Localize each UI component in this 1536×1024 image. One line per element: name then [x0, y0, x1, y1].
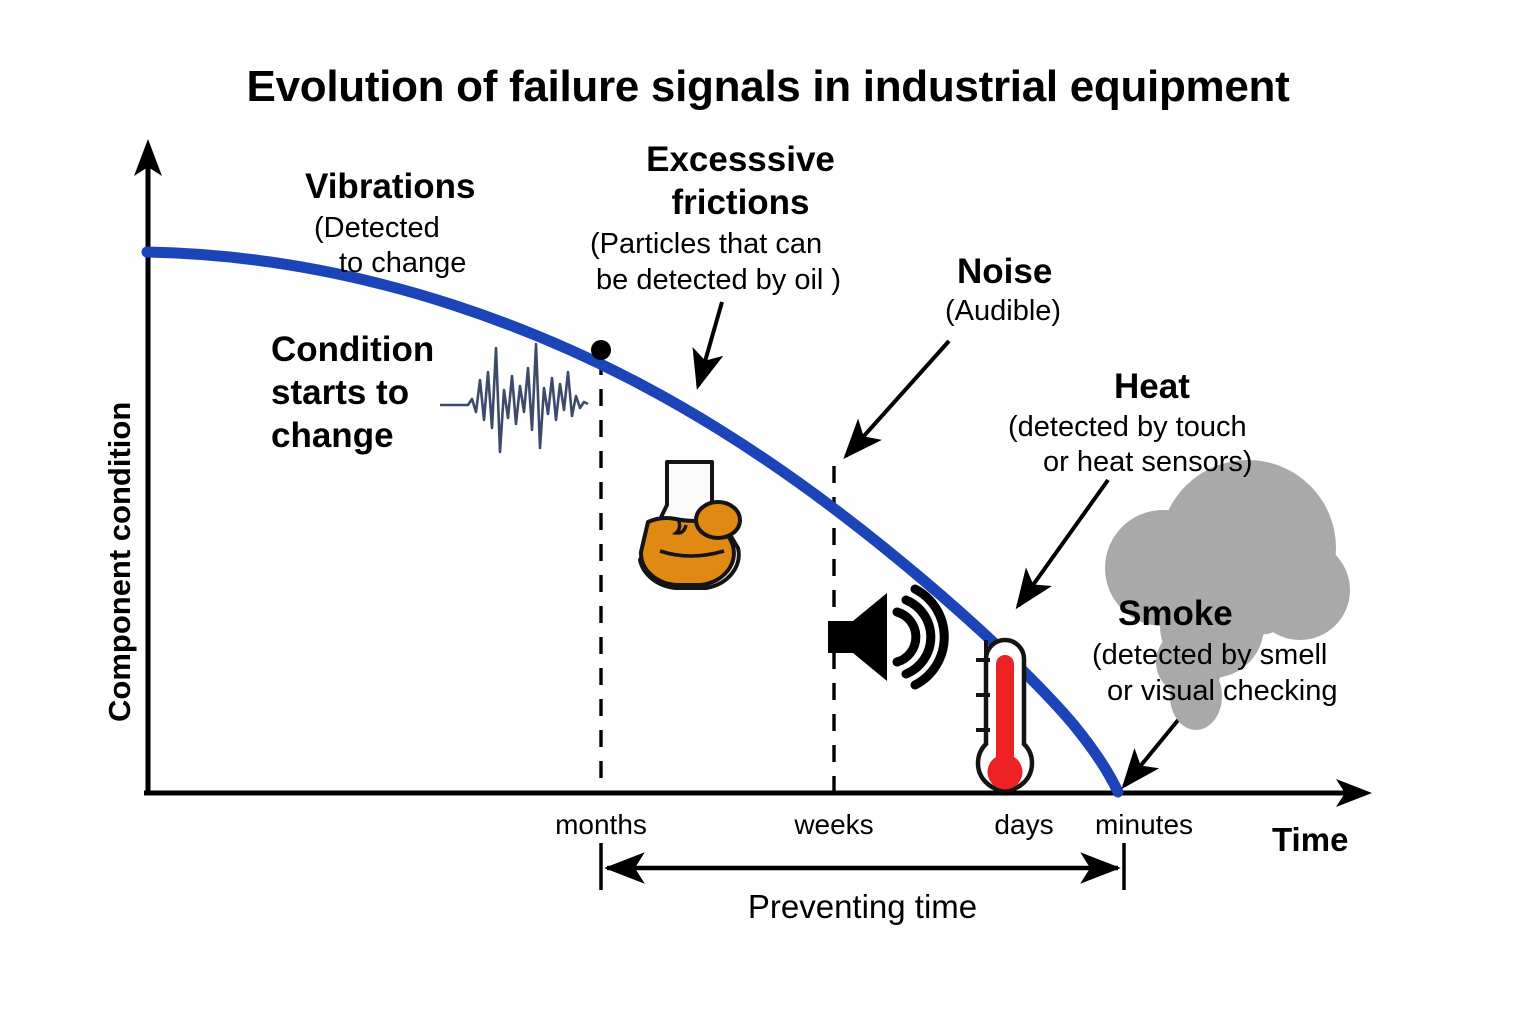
heat-arrow [1018, 480, 1108, 606]
x-axis [144, 779, 1372, 807]
condition-start-dot-marker [591, 340, 611, 360]
annotation-smoke-heading: Smoke [1118, 595, 1233, 632]
speaker-icon [828, 589, 944, 685]
frictions-arrow [698, 302, 722, 386]
annotation-vibrations-sub-2: to change [339, 248, 466, 279]
thermometer-icon [976, 640, 1032, 790]
annotation-noise-heading: Noise [957, 253, 1052, 290]
annotation-frictions-heading-2: frictions [583, 184, 898, 221]
y-axis [134, 139, 162, 793]
annotation-condition-line-3: change [271, 417, 394, 454]
annotation-frictions-heading-1: Excesssive [583, 141, 898, 178]
annotation-smoke-sub-2: or visual checking [1107, 676, 1338, 707]
annotation-heat-sub-1: (detected by touch [1008, 412, 1247, 443]
x-tick-label-weeks: weeks [754, 810, 914, 840]
oil-flask-icon [640, 462, 740, 588]
annotation-heat-sub-2: or heat sensors) [1043, 447, 1253, 478]
x-axis-label: Time [1272, 823, 1348, 858]
waveform-icon [440, 344, 588, 452]
annotation-noise-sub-1: (Audible) [945, 296, 1061, 327]
noise-arrow [846, 341, 949, 456]
preventing-time-bracket [601, 843, 1124, 890]
page-title: Evolution of failure signals in industri… [0, 64, 1536, 111]
annotation-frictions-sub-1: (Particles that can [590, 229, 822, 260]
diagram-canvas: Evolution of failure signals in industri… [0, 0, 1536, 1024]
x-tick-label-minutes: minutes [1064, 810, 1224, 840]
preventing-time-label: Preventing time [601, 890, 1124, 925]
annotation-vibrations-sub-1: (Detected [314, 213, 440, 244]
annotation-vibrations-heading: Vibrations [305, 168, 476, 205]
annotation-frictions-sub-2: be detected by oil ) [596, 265, 841, 296]
annotation-condition-line-2: starts to [271, 374, 409, 411]
annotation-heat-heading: Heat [1114, 368, 1190, 405]
y-axis-label: Component condition [102, 402, 138, 722]
annotation-smoke-sub-1: (detected by smell [1092, 640, 1327, 671]
x-tick-label-months: months [521, 810, 681, 840]
annotation-condition-line-1: Condition [271, 331, 434, 368]
